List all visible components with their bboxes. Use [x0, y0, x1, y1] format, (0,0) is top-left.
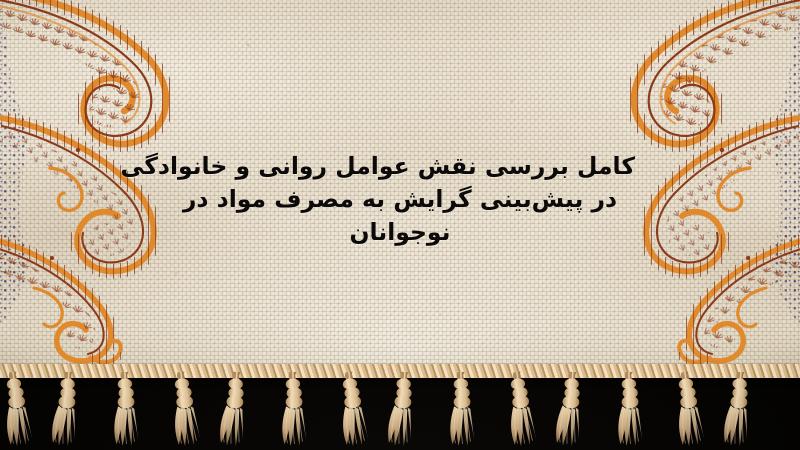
textile-title-card: کامل بررسی نقش عوامل روانی و خانوادگی در…	[0, 0, 800, 450]
title-line-2: در پیش‌بینی گرایش به مصرف مواد در	[165, 183, 635, 216]
title-block: کامل بررسی نقش عوامل روانی و خانوادگی در…	[165, 150, 635, 249]
title-line-1: کامل بررسی نقش عوامل روانی و خانوادگی	[165, 150, 635, 183]
title-line-3: نوجوانان	[165, 216, 635, 249]
